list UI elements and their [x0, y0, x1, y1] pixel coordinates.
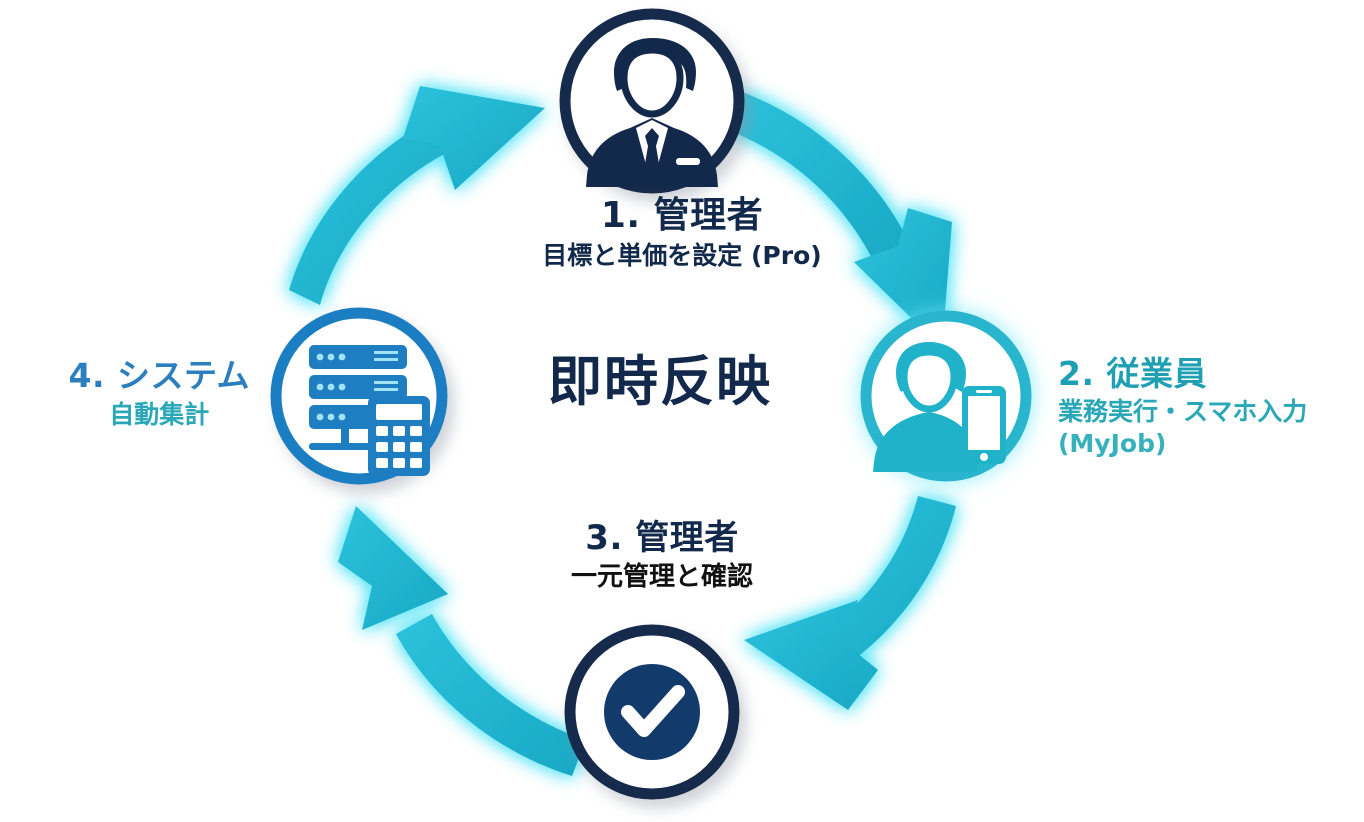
- node-manager-top[interactable]: [565, 14, 739, 188]
- node-2-subtitle-secondary: (MyJob): [1058, 430, 1307, 458]
- node-employee[interactable]: [866, 316, 1026, 476]
- node-1-title: 1. 管理者: [542, 196, 821, 236]
- node-1-subtitle: 目標と単価を設定 (Pro): [542, 242, 821, 270]
- arrow-check-to-system: [338, 506, 586, 776]
- node-4-title: 4. システム: [69, 358, 251, 395]
- label-node-manager-top: 1. 管理者 目標と単価を設定 (Pro): [542, 196, 821, 270]
- node-3-title: 3. 管理者: [571, 519, 753, 557]
- node-checkmark[interactable]: [570, 630, 734, 794]
- node-system[interactable]: [276, 313, 442, 479]
- label-node-manager-bottom: 3. 管理者 一元管理と確認: [571, 519, 753, 592]
- label-node-employee: 2. 従業員 業務実行・スマホ入力 (MyJob): [1058, 356, 1307, 458]
- node-3-subtitle: 一元管理と確認: [571, 563, 753, 592]
- diagram-canvas: 即時反映 1. 管理者 目標と単価を設定 (Pro) 2. 従業員 業務実行・ス…: [0, 0, 1364, 822]
- label-node-system: 4. システム 自動集計: [69, 358, 251, 429]
- checkmark-circle-icon: [604, 664, 700, 760]
- arrow-system-to-manager: [289, 86, 545, 305]
- node-4-subtitle: 自動集計: [69, 401, 251, 429]
- node-2-title: 2. 従業員: [1058, 356, 1307, 393]
- center-label: 即時反映: [548, 352, 772, 412]
- arrow-employee-to-check: [744, 496, 956, 710]
- node-2-subtitle: 業務実行・スマホ入力: [1058, 398, 1307, 426]
